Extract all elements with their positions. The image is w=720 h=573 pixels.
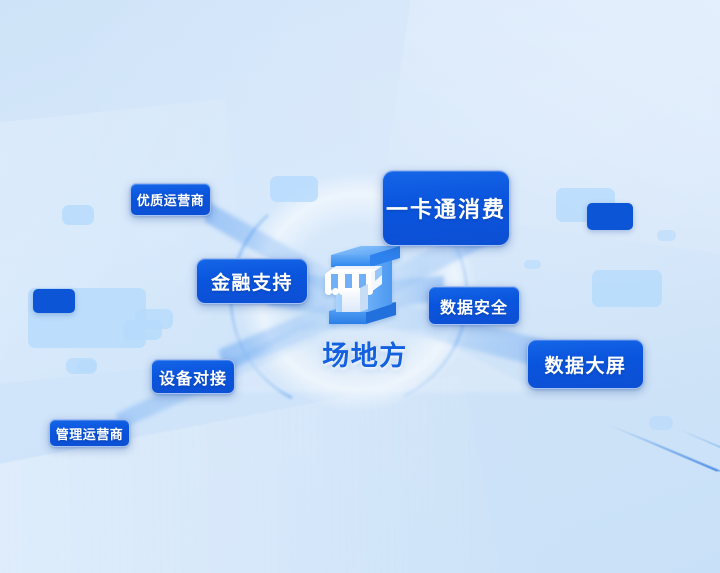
deco-rect-light <box>270 176 318 202</box>
hub-label: 场地方 <box>300 334 430 373</box>
background-sheen-bottom-left <box>0 374 526 573</box>
node-badge-label: 数据安全 <box>440 294 508 318</box>
node-badge-label: 设备对接 <box>159 365 227 389</box>
node-badge-label: 一卡通消费 <box>386 192 506 224</box>
node-badge-financial-support[interactable]: 金融支持 <box>196 258 308 304</box>
infographic-canvas: 场地方 一卡通消费金融支持数据大屏数据安全设备对接优质运营商管理运营商 <box>0 0 720 573</box>
node-badge-management-operator[interactable]: 管理运营商 <box>49 419 130 447</box>
node-badge-data-dashboard[interactable]: 数据大屏 <box>527 339 644 389</box>
storefront-3d-icon <box>312 236 418 332</box>
node-badge-quality-operator[interactable]: 优质运营商 <box>130 183 211 216</box>
deco-rect-light <box>649 416 673 430</box>
node-badge-label: 金融支持 <box>211 268 293 295</box>
deco-rect-light <box>524 260 541 269</box>
speed-line <box>680 429 720 449</box>
node-badge-data-security[interactable]: 数据安全 <box>428 286 520 325</box>
node-badge-label: 优质运营商 <box>137 190 205 209</box>
hub-venue-party: 场地方 <box>300 236 430 381</box>
deco-rect-light <box>657 230 676 241</box>
deco-rect-light <box>592 270 662 307</box>
deco-rect-light <box>62 205 94 225</box>
deco-rect-light <box>78 360 96 372</box>
node-badge-label: 管理运营商 <box>56 424 124 443</box>
deco-rect-solid <box>33 289 75 313</box>
node-badge-device-docking[interactable]: 设备对接 <box>151 359 235 394</box>
background-sheen-left <box>0 99 252 401</box>
node-badge-label: 数据大屏 <box>544 351 626 378</box>
deco-rect-solid <box>587 203 633 230</box>
speed-line <box>628 431 720 472</box>
deco-rect-light <box>135 309 173 329</box>
node-badge-one-card-consumption[interactable]: 一卡通消费 <box>382 170 510 246</box>
